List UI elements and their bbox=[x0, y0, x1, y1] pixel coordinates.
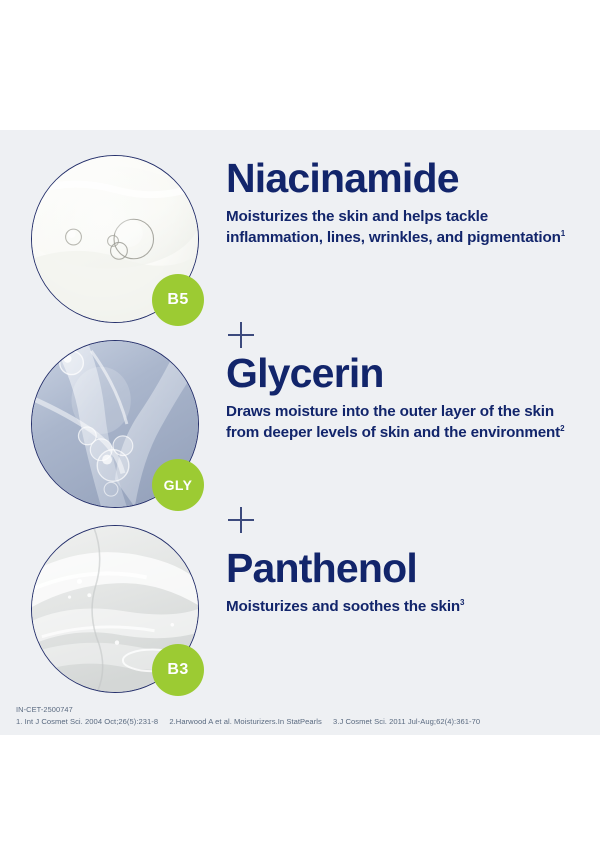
ingredient-panel: B5 Niacinamide Moisturizes the skin and … bbox=[0, 130, 600, 735]
ingredient-row: B3 Panthenol Moisturizes and soothes the… bbox=[0, 522, 600, 707]
description-text: Moisturizes and soothes the skin bbox=[226, 598, 460, 615]
ingredient-text-block: Glycerin Draws moisture into the outer l… bbox=[208, 337, 586, 443]
document-code: IN-CET-2500747 bbox=[16, 704, 586, 715]
ingredient-swatch-niacinamide: B5 bbox=[28, 152, 208, 332]
footnote-marker: 2 bbox=[560, 423, 564, 432]
ingredient-description: Moisturizes and soothes the skin3 bbox=[226, 597, 586, 618]
description-text: Draws moisture into the outer layer of t… bbox=[226, 403, 560, 441]
reference-item: 1. Int J Cosmet Sci. 2004 Oct;26(5):231-… bbox=[16, 717, 158, 726]
ingredient-title: Niacinamide bbox=[226, 158, 586, 199]
vitamin-badge-b5: B5 bbox=[152, 274, 204, 326]
ingredient-row: B5 Niacinamide Moisturizes the skin and … bbox=[0, 152, 600, 337]
ingredient-badge-gly: GLY bbox=[152, 459, 204, 511]
description-text: Moisturizes the skin and helps tackle in… bbox=[226, 208, 561, 246]
ingredient-swatch-panthenol: B3 bbox=[28, 522, 208, 702]
ingredient-text-block: Panthenol Moisturizes and soothes the sk… bbox=[208, 522, 586, 618]
references-line: 1. Int J Cosmet Sci. 2004 Oct;26(5):231-… bbox=[16, 716, 586, 727]
ingredient-description: Draws moisture into the outer layer of t… bbox=[226, 402, 586, 443]
footnote-marker: 3 bbox=[460, 598, 464, 607]
reference-item: 2.Harwood A et al. Moisturizers.In StatP… bbox=[169, 717, 322, 726]
footnotes-block: IN-CET-2500747 1. Int J Cosmet Sci. 2004… bbox=[16, 704, 586, 728]
ingredient-description: Moisturizes the skin and helps tackle in… bbox=[226, 207, 586, 248]
reference-item: 3.J Cosmet Sci. 2011 Jul-Aug;62(4):361-7… bbox=[333, 717, 480, 726]
vitamin-badge-b3: B3 bbox=[152, 644, 204, 696]
ingredient-title: Glycerin bbox=[226, 353, 586, 394]
ingredient-swatch-glycerin: GLY bbox=[28, 337, 208, 517]
ingredient-text-block: Niacinamide Moisturizes the skin and hel… bbox=[208, 152, 586, 248]
ingredient-row: GLY Glycerin Draws moisture into the out… bbox=[0, 337, 600, 522]
footnote-marker: 1 bbox=[561, 228, 565, 237]
ingredient-title: Panthenol bbox=[226, 548, 586, 589]
